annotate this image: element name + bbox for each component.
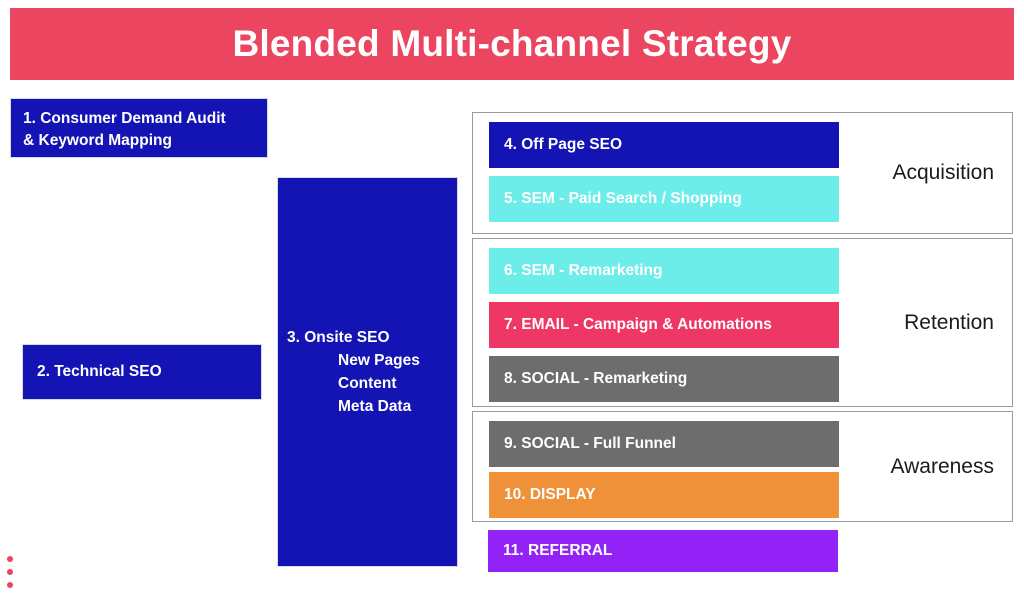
bar-display[interactable]: 10. DISPLAY (489, 472, 839, 518)
box-consumer-demand-audit[interactable]: 1. Consumer Demand Audit & Keyword Mappi… (10, 98, 268, 158)
dot-icon (7, 556, 13, 562)
bar-email-campaign-automations[interactable]: 7. EMAIL - Campaign & Automations (489, 302, 839, 348)
decorative-dots (7, 556, 13, 588)
box-consumer-demand-audit-line1: 1. Consumer Demand Audit (23, 108, 255, 130)
bar-referral-label: 11. REFERRAL (503, 542, 612, 560)
group-label-awareness: Awareness (890, 455, 994, 479)
onsite-seo-item-new-pages: New Pages (278, 349, 457, 372)
bar-email-campaign-automations-label: 7. EMAIL - Campaign & Automations (504, 316, 772, 334)
onsite-seo-title: 3. Onsite SEO (278, 326, 457, 349)
title-banner: Blended Multi-channel Strategy (10, 8, 1014, 80)
bar-sem-paid-search-shopping-label: 5. SEM - Paid Search / Shopping (504, 190, 742, 208)
bar-sem-remarketing[interactable]: 6. SEM - Remarketing (489, 248, 839, 294)
group-acquisition: 4. Off Page SEO 5. SEM - Paid Search / S… (472, 112, 1013, 234)
bar-sem-paid-search-shopping[interactable]: 5. SEM - Paid Search / Shopping (489, 176, 839, 222)
bar-off-page-seo[interactable]: 4. Off Page SEO (489, 122, 839, 168)
onsite-seo-item-content: Content (278, 372, 457, 395)
box-consumer-demand-audit-line2: & Keyword Mapping (23, 130, 255, 152)
bar-social-remarketing[interactable]: 8. SOCIAL - Remarketing (489, 356, 839, 402)
onsite-seo-item-meta-data: Meta Data (278, 395, 457, 418)
bar-display-label: 10. DISPLAY (504, 486, 596, 504)
group-label-acquisition: Acquisition (892, 161, 994, 185)
bar-off-page-seo-label: 4. Off Page SEO (504, 136, 622, 154)
bar-referral[interactable]: 11. REFERRAL (488, 530, 838, 572)
group-retention: 6. SEM - Remarketing 7. EMAIL - Campaign… (472, 238, 1013, 407)
box-technical-seo[interactable]: 2. Technical SEO (22, 344, 262, 400)
dot-icon (7, 569, 13, 575)
bar-social-full-funnel[interactable]: 9. SOCIAL - Full Funnel (489, 421, 839, 467)
bar-social-remarketing-label: 8. SOCIAL - Remarketing (504, 370, 687, 388)
page-title: Blended Multi-channel Strategy (232, 25, 791, 64)
group-awareness: 9. SOCIAL - Full Funnel 10. DISPLAY Awar… (472, 411, 1013, 522)
group-label-retention: Retention (904, 311, 994, 335)
bar-sem-remarketing-label: 6. SEM - Remarketing (504, 262, 663, 280)
slide-canvas: Blended Multi-channel Strategy 1. Consum… (0, 0, 1024, 593)
box-technical-seo-label: 2. Technical SEO (37, 361, 162, 383)
dot-icon (7, 582, 13, 588)
bar-social-full-funnel-label: 9. SOCIAL - Full Funnel (504, 435, 676, 453)
box-onsite-seo[interactable]: 3. Onsite SEO New Pages Content Meta Dat… (277, 177, 458, 567)
